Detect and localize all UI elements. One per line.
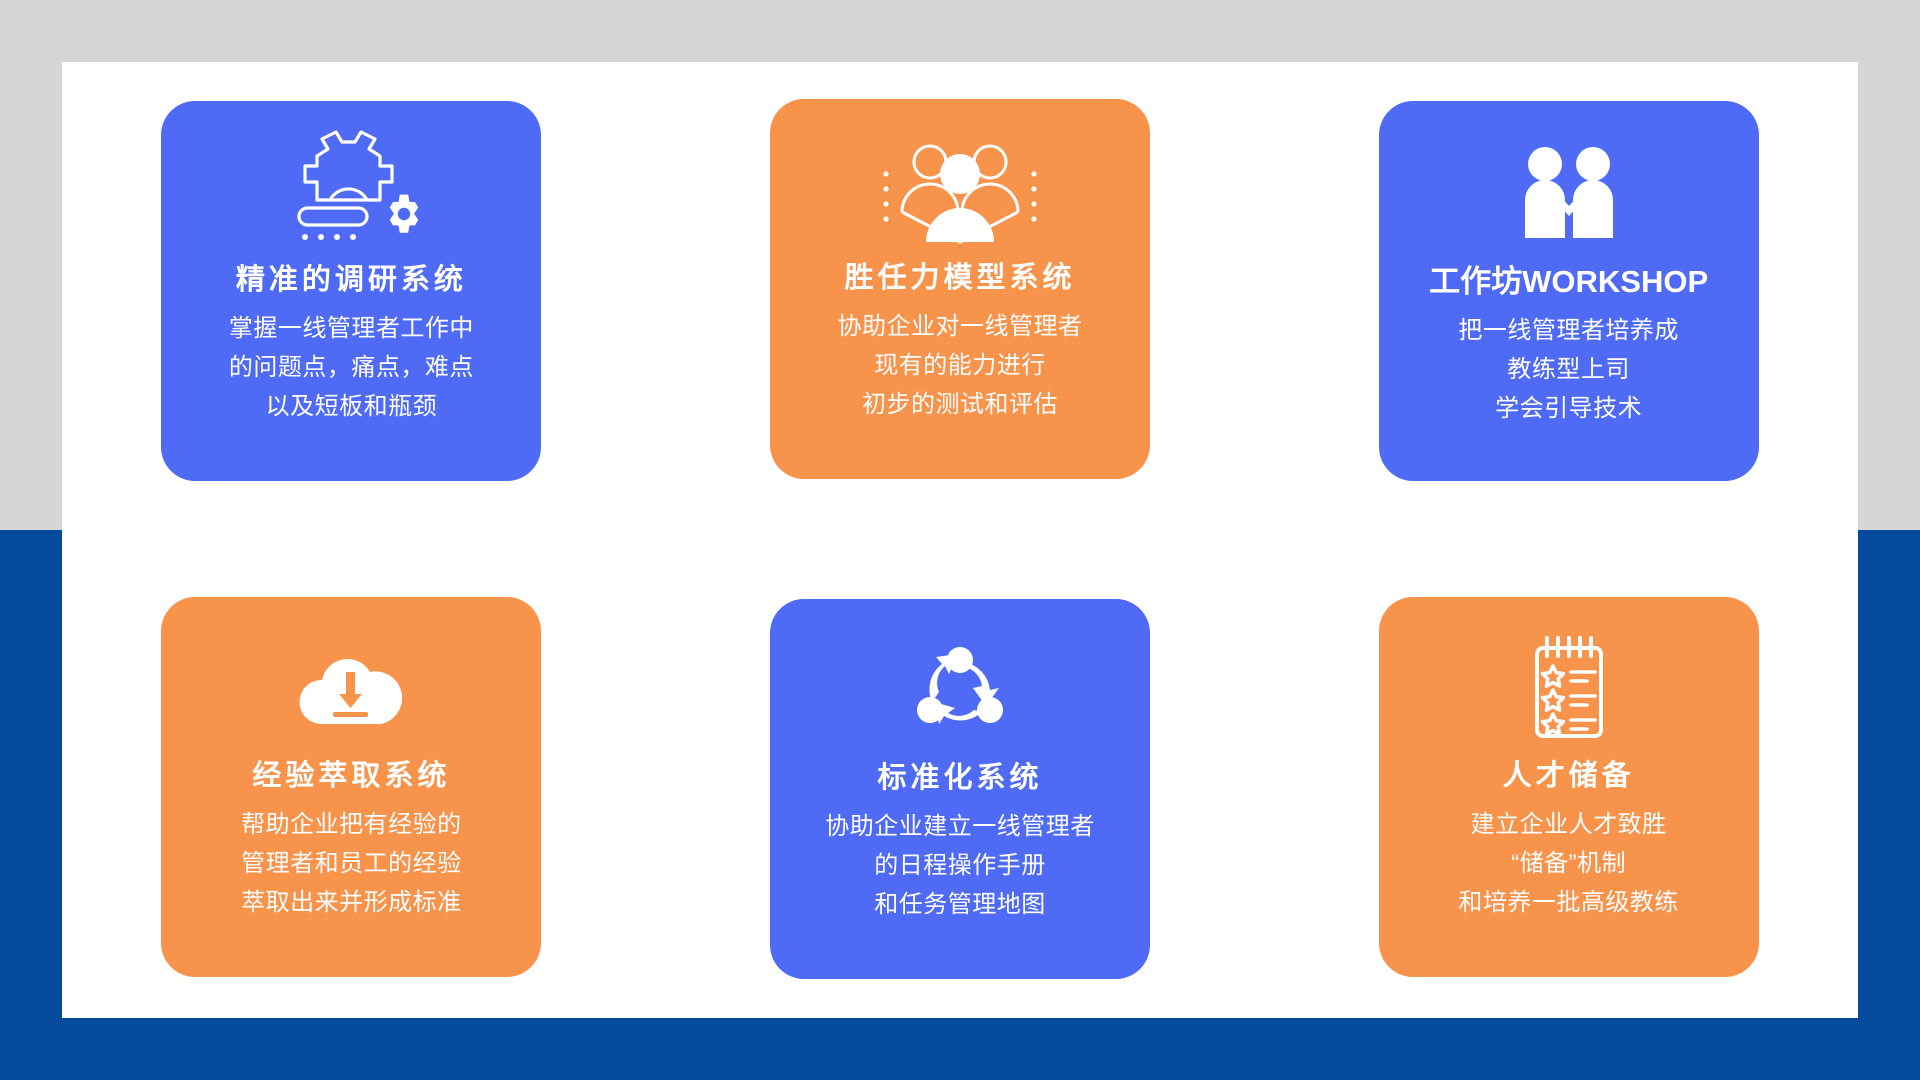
desc-line: 现有的能力进行: [837, 347, 1082, 386]
card-title: 经验萃取系统: [252, 759, 450, 794]
card-description: 建立企业人才致胜 “储备”机制 和培养一批高级教练: [1458, 806, 1679, 923]
desc-line: 协助企业对一线管理者: [837, 308, 1082, 347]
card-title: 人才储备: [1503, 759, 1635, 794]
card-research-system[interactable]: 精准的调研系统 掌握一线管理者工作中 的问题点，痛点，难点 以及短板和瓶颈: [161, 101, 541, 481]
desc-line: 把一线管理者培养成: [1458, 312, 1679, 351]
card-title: 精准的调研系统: [236, 263, 467, 298]
desc-line: 协助企业建立一线管理者: [825, 808, 1095, 847]
card-talent-reserve[interactable]: 人才储备 建立企业人才致胜 “储备”机制 和培养一批高级教练: [1379, 597, 1759, 977]
desc-line: 萃取出来并形成标准: [241, 884, 462, 923]
card-title: 工作坊WORKSHOP: [1429, 263, 1708, 300]
notepad-checklist-icon: [1523, 623, 1615, 753]
cycle-share-icon: [908, 625, 1012, 755]
desc-line: 的日程操作手册: [825, 847, 1095, 886]
card-description: 协助企业对一线管理者 现有的能力进行 初步的测试和评估: [837, 308, 1082, 425]
desc-line: 的问题点，痛点，难点: [229, 349, 474, 388]
gear-settings-icon: [283, 127, 419, 257]
card-grid: 精准的调研系统 掌握一线管理者工作中 的问题点，痛点，难点 以及短板和瓶颈: [62, 62, 1858, 1018]
desc-line: 以及短板和瓶颈: [229, 388, 474, 427]
desc-line: 管理者和员工的经验: [241, 845, 462, 884]
desc-line: 和任务管理地图: [825, 886, 1095, 925]
desc-line: 掌握一线管理者工作中: [229, 310, 474, 349]
card-description: 掌握一线管理者工作中 的问题点，痛点，难点 以及短板和瓶颈: [229, 310, 474, 427]
card-workshop[interactable]: 工作坊WORKSHOP 把一线管理者培养成 教练型上司 学会引导技术: [1379, 101, 1759, 481]
cloud-download-icon: [291, 623, 411, 753]
card-standardization-system[interactable]: 标准化系统 协助企业建立一线管理者 的日程操作手册 和任务管理地图: [770, 599, 1150, 979]
two-people-handshake-icon: [1517, 127, 1621, 257]
desc-line: 初步的测试和评估: [837, 386, 1082, 425]
desc-line: “储备”机制: [1458, 845, 1679, 884]
desc-line: 和培养一批高级教练: [1458, 884, 1679, 923]
card-description: 把一线管理者培养成 教练型上司 学会引导技术: [1458, 312, 1679, 429]
card-description: 帮助企业把有经验的 管理者和员工的经验 萃取出来并形成标准: [241, 806, 462, 923]
card-title: 标准化系统: [877, 761, 1042, 796]
people-group-icon: [880, 125, 1040, 255]
card-description: 协助企业建立一线管理者 的日程操作手册 和任务管理地图: [825, 808, 1095, 925]
card-experience-extraction-system[interactable]: 经验萃取系统 帮助企业把有经验的 管理者和员工的经验 萃取出来并形成标准: [161, 597, 541, 977]
desc-line: 帮助企业把有经验的: [241, 806, 462, 845]
desc-line: 学会引导技术: [1458, 390, 1679, 429]
desc-line: 教练型上司: [1458, 351, 1679, 390]
slide-canvas: 精准的调研系统 掌握一线管理者工作中 的问题点，痛点，难点 以及短板和瓶颈: [0, 0, 1920, 1080]
desc-line: 建立企业人才致胜: [1458, 806, 1679, 845]
card-competency-model-system[interactable]: 胜任力模型系统 协助企业对一线管理者 现有的能力进行 初步的测试和评估: [770, 99, 1150, 479]
card-title: 胜任力模型系统: [844, 261, 1075, 296]
